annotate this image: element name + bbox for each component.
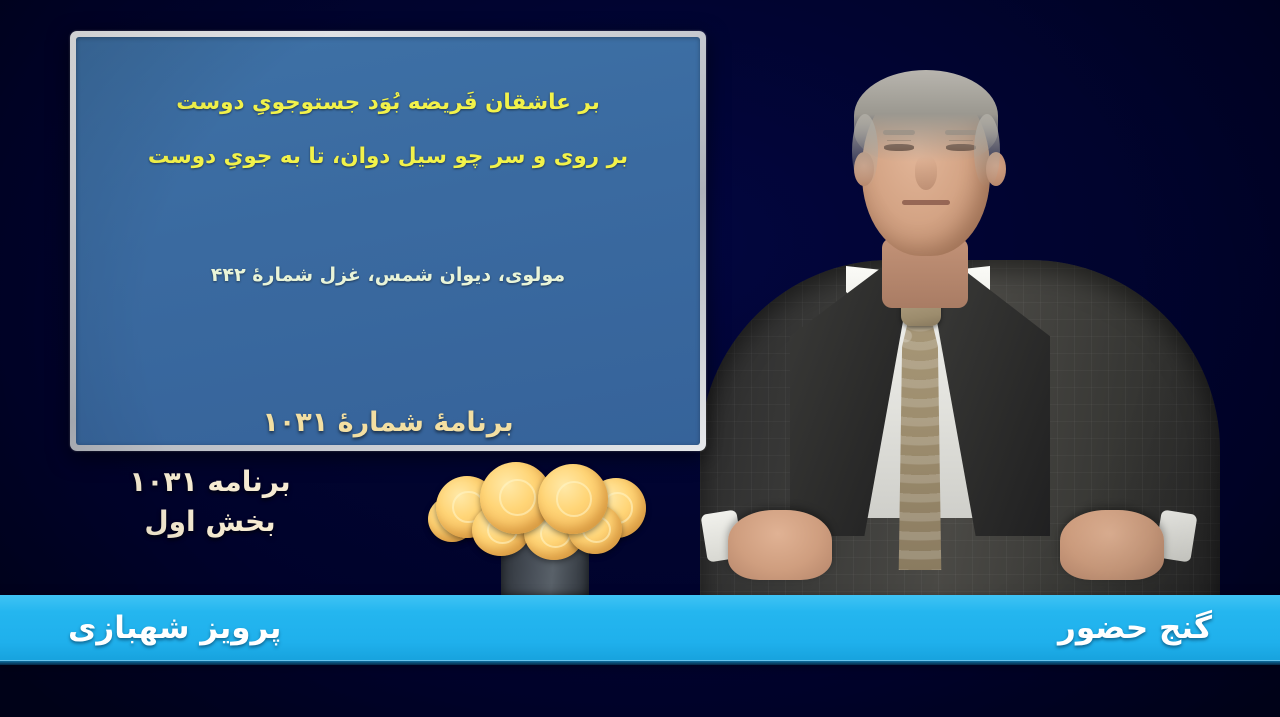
lower-third-banner: گنج حضور پرویز شهبازی xyxy=(0,595,1280,661)
poem-verse-line-2: بر روی و سر چو سیل دوان، تا به جویِ دوست xyxy=(76,143,700,171)
program-caption: برنامه ۱۰۳۱ بخش اول xyxy=(60,462,360,542)
mouth xyxy=(902,200,950,205)
hand-left xyxy=(728,510,832,580)
poem-verses: بر عاشقان فَریضه بُوَد جستوجویِ دوست بر … xyxy=(76,89,700,196)
program-caption-line-1: برنامه ۱۰۳۱ xyxy=(60,462,360,502)
program-caption-line-2: بخش اول xyxy=(60,502,360,542)
hand-right xyxy=(1060,510,1164,580)
rose-icon xyxy=(538,464,608,534)
poem-verse-line-1: بر عاشقان فَریضه بُوَد جستوجویِ دوست xyxy=(76,89,700,117)
poem-source-citation: مولوی، دیوان شمس، غزل شمارهٔ ۴۴۲ xyxy=(76,264,700,286)
hair xyxy=(854,70,998,162)
host-name-label: پرویز شهبازی xyxy=(68,610,281,646)
presenter-figure xyxy=(640,60,1280,600)
video-frame: بر عاشقان فَریضه بُوَد جستوجویِ دوست بر … xyxy=(0,0,1280,717)
slide-program-number: برنامهٔ شمارهٔ ۱۰۳۱ xyxy=(76,407,700,438)
flower-bouquet xyxy=(428,452,660,600)
banner-underline xyxy=(0,661,1280,665)
slide-board-surface: بر عاشقان فَریضه بُوَد جستوجویِ دوست بر … xyxy=(76,37,700,445)
show-name-label: گنج حضور xyxy=(1058,610,1212,646)
slide-board: بر عاشقان فَریضه بُوَد جستوجویِ دوست بر … xyxy=(70,31,706,451)
